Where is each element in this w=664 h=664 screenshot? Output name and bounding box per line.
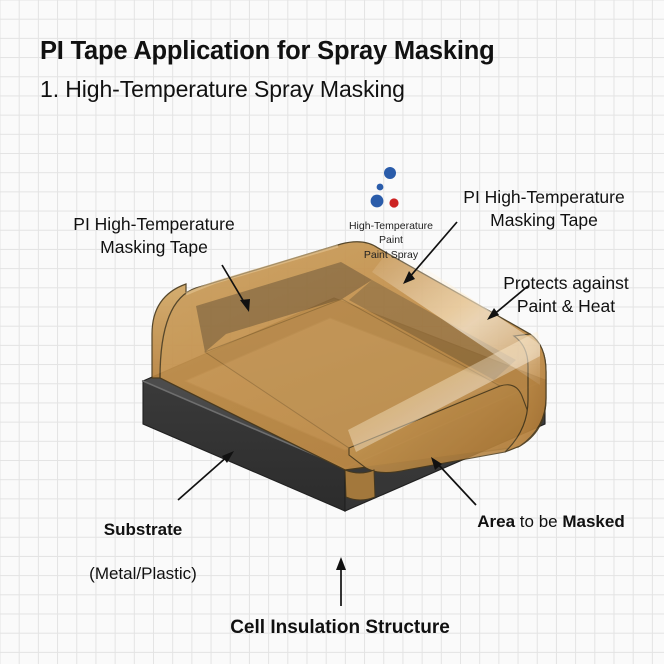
- label-pi-masking-tape-right: PI High-Temperature Masking Tape: [444, 186, 644, 232]
- label-substrate-material: (Metal/Plastic): [89, 564, 197, 583]
- spray-dot-blue-small: [377, 184, 384, 191]
- label-masked-word: Masked: [562, 512, 624, 531]
- tape-front-lip: [345, 470, 375, 500]
- label-substrate: Substrate (Metal/Plastic): [55, 497, 231, 585]
- spray-dot-blue-large-bottom: [371, 195, 384, 208]
- label-substrate-title: Substrate: [104, 520, 182, 539]
- arrow-line-area: [436, 462, 476, 505]
- label-area-connector: to be: [515, 512, 562, 531]
- bottom-caption: Cell Insulation Structure: [180, 616, 500, 641]
- spray-dot-blue-large-top: [384, 167, 396, 179]
- label-protects-against: Protects against Paint & Heat: [490, 272, 642, 318]
- arrow-line-substrate: [178, 455, 229, 500]
- arrow-head-caption: [336, 557, 346, 570]
- label-area-to-be-masked: Area to be Masked: [456, 511, 646, 533]
- page-title: PI Tape Application for Spray Masking: [40, 36, 495, 66]
- diagram-canvas: PI Tape Application for Spray Masking 1.…: [0, 0, 664, 664]
- label-high-temperature-paint-spray: High-Temperature Paint Paint Spray: [345, 219, 437, 262]
- page-subtitle: 1. High-Temperature Spray Masking: [40, 76, 405, 103]
- spray-dots-group: [371, 167, 399, 208]
- label-area-word: Area: [477, 512, 515, 531]
- label-pi-masking-tape-left: PI High-Temperature Masking Tape: [48, 213, 260, 259]
- spray-dot-red: [389, 198, 398, 207]
